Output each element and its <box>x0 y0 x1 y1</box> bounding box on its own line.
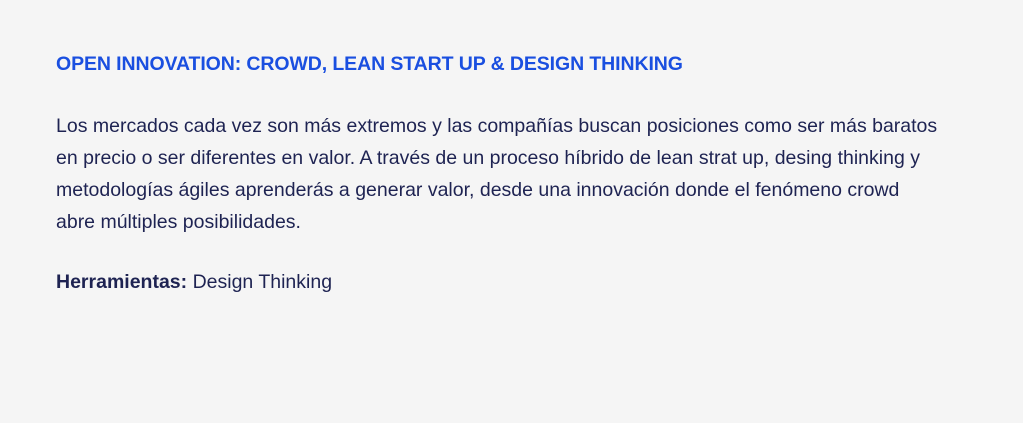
page-title: OPEN INNOVATION: CROWD, LEAN START UP & … <box>56 52 956 76</box>
tools-row: Herramientas: Design Thinking <box>56 268 940 296</box>
course-description: Los mercados cada vez son más extremos y… <box>56 110 940 238</box>
tools-value: Design Thinking <box>193 271 332 293</box>
tools-label: Herramientas: <box>56 271 187 293</box>
course-info-panel: OPEN INNOVATION: CROWD, LEAN START UP & … <box>0 0 1023 423</box>
